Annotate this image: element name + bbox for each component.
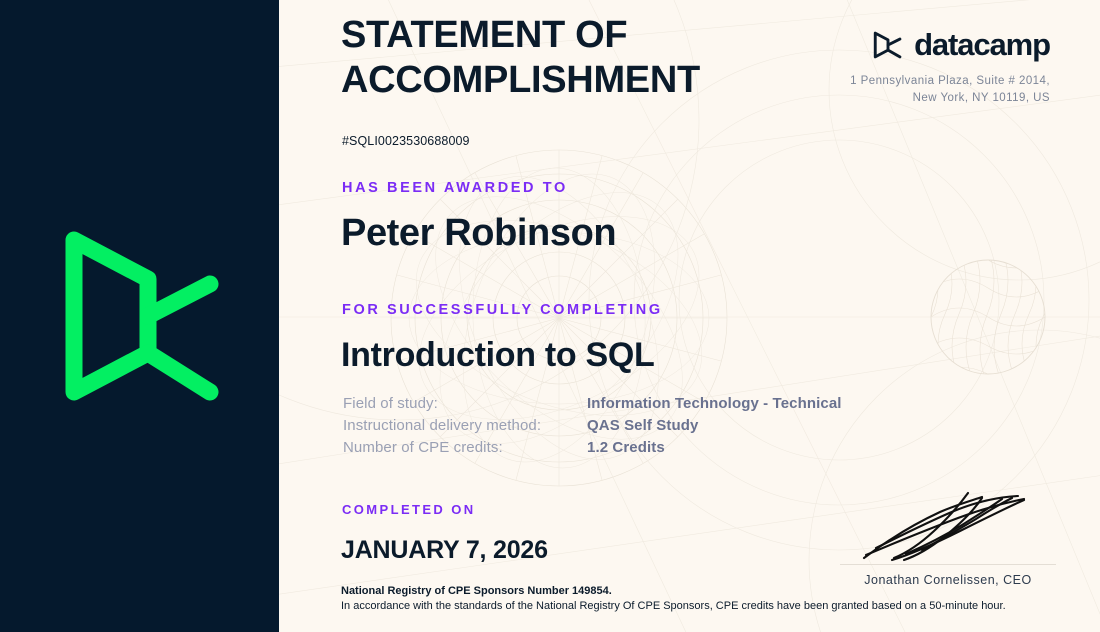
recipient-name: Peter Robinson [341,212,616,255]
datacamp-arrow-logo-icon [871,28,905,62]
certificate-id: #SQLI0023530688009 [342,134,470,148]
detail-value: Information Technology - Technical [587,395,842,412]
footer: National Registry of CPE Sponsors Number… [341,584,1061,614]
detail-label: Instructional delivery method: [343,417,587,434]
completed-on-eyebrow: COMPLETED ON [342,502,476,517]
brand-logo-block: datacamp 1 Pennsylvania Plaza, Suite # 2… [800,28,1050,107]
detail-row: Number of CPE credits: 1.2 Credits [343,439,842,461]
address-line-2: New York, NY 10119, US [800,90,1050,107]
registry-line: National Registry of CPE Sponsors Number… [341,584,1061,599]
course-name: Introduction to SQL [341,336,654,375]
signature-block: Jonathan Cornelissen, CEO [840,484,1056,587]
brand-wordmark: datacamp [914,28,1050,62]
certificate: STATEMENT OF ACCOMPLISHMENT #SQLI0023530… [0,0,1100,632]
completion-date: JANUARY 7, 2026 [341,536,548,565]
address-line-1: 1 Pennsylvania Plaza, Suite # 2014, [800,73,1050,90]
datacamp-arrow-logo-icon [60,216,220,416]
page-title: STATEMENT OF ACCOMPLISHMENT [341,13,761,103]
detail-value: QAS Self Study [587,417,698,434]
detail-label: Field of study: [343,395,587,412]
detail-row: Instructional delivery method: QAS Self … [343,417,842,439]
handwritten-signature-icon [848,484,1048,564]
awarded-to-eyebrow: HAS BEEN AWARDED TO [342,180,568,196]
certificate-body: STATEMENT OF ACCOMPLISHMENT #SQLI0023530… [279,0,1100,632]
detail-value: 1.2 Credits [587,439,665,456]
detail-label: Number of CPE credits: [343,439,587,456]
signature-rule [840,564,1056,565]
footer-disclaimer: In accordance with the standards of the … [341,599,1061,614]
completing-eyebrow: FOR SUCCESSFULLY COMPLETING [342,302,663,318]
brand-panel [0,0,279,632]
course-details: Field of study: Information Technology -… [343,395,842,461]
detail-row: Field of study: Information Technology -… [343,395,842,417]
brand-address: 1 Pennsylvania Plaza, Suite # 2014, New … [800,73,1050,107]
